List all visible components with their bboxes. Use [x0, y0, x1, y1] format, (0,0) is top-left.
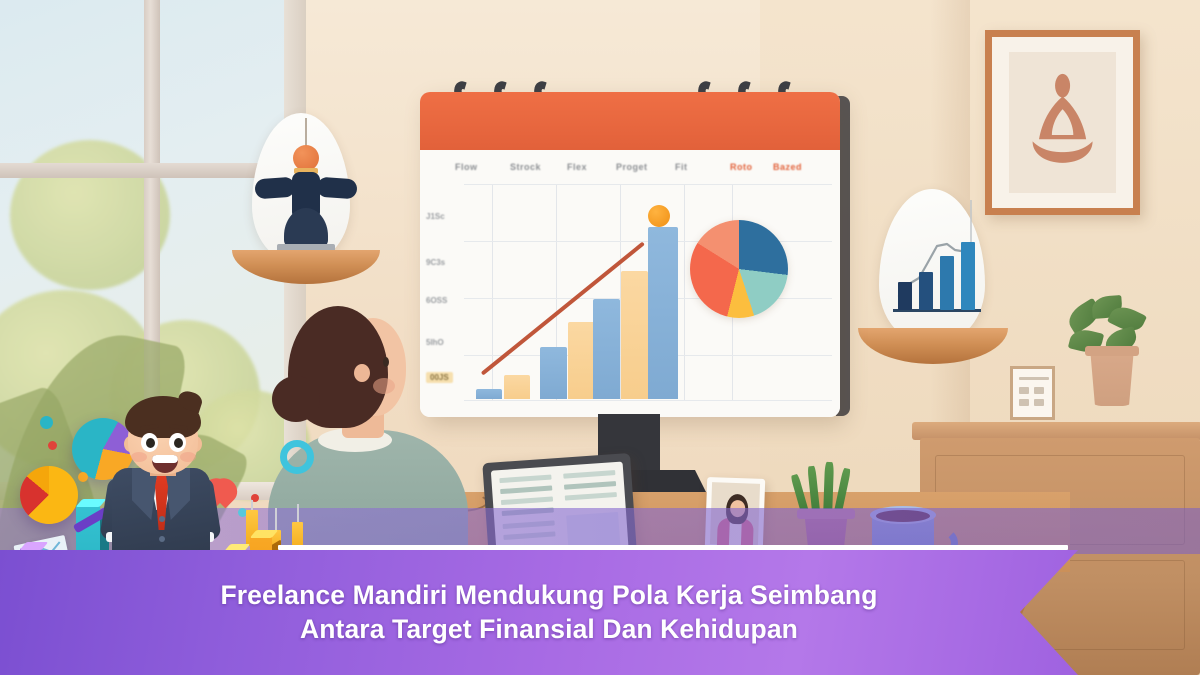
woman-cheek [373, 378, 395, 394]
chart-trend-marker [648, 205, 670, 227]
chart-row-label: 9C3s [426, 258, 445, 267]
businessman-pupil-left [146, 438, 155, 448]
display-header-bar [420, 92, 840, 150]
accent-dot-red [48, 441, 57, 450]
cabinet-mini-frame [1010, 366, 1055, 420]
chart-row-label: 6OSS [426, 296, 447, 305]
figurine-arm-right [316, 177, 357, 200]
chart-col-label: Flow [455, 162, 478, 172]
chart-col-label: Proget [616, 162, 648, 172]
businessman-button [159, 536, 165, 542]
banner-title-line1: Freelance Mandiri Mendukung Pola Kerja S… [220, 580, 877, 610]
woman-eye [383, 357, 389, 367]
display-chart-area: Flow Strock Flex Proget Fit Roto Bazed J… [420, 150, 840, 417]
ornament-bar-4 [961, 242, 975, 310]
chart-bar-blue-2 [540, 347, 567, 399]
figurine-arm-left [254, 177, 295, 200]
chart-col-label: Fit [675, 162, 688, 172]
yoga-figure-icon [1009, 52, 1116, 192]
banner-title-line2: Antara Target Finansial Dan Kehidupan [169, 613, 929, 647]
chart-pie [690, 220, 788, 318]
chart-bar-sand-2 [568, 322, 595, 399]
chart-col-label: Strock [510, 162, 541, 172]
banner-screenshot: Flow Strock Flex Proget Fit Roto Bazed J… [0, 0, 1200, 675]
banner-title: Freelance Mandiri Mendukung Pola Kerja S… [169, 579, 929, 647]
chart-col-label: Bazed [773, 162, 802, 172]
chart-bar-sand-1 [504, 375, 530, 399]
wall-art-canvas [1009, 52, 1116, 192]
cabinet-plant-pot-rim [1085, 346, 1139, 356]
chart-row-label-highlight: 00JS [426, 372, 453, 383]
businessman-button [159, 516, 165, 522]
accent-dot-cyan [40, 416, 53, 429]
accent-ring-cyan [280, 440, 314, 474]
chart-col-label: Flex [567, 162, 587, 172]
wall-art-frame [985, 30, 1140, 215]
banner: Freelance Mandiri Mendukung Pola Kerja S… [0, 550, 1078, 675]
chart-bar-blue-4 [648, 227, 678, 399]
woman-hair-bun [272, 376, 320, 422]
chart-col-label: Roto [730, 162, 753, 172]
chart-bar-sand-3 [621, 271, 648, 399]
ornament-bar-1 [898, 282, 912, 310]
businessman-cheek-left [131, 452, 147, 462]
chart-row-label: J1Sc [426, 212, 445, 221]
chart-row-label: 5IhO [426, 338, 444, 347]
infographic-pie-left [20, 466, 78, 524]
ornament-bar-3 [940, 256, 954, 310]
wall-art-mat [992, 37, 1133, 208]
ornament-bar-2 [919, 272, 933, 310]
banner-divider-rule [278, 545, 1068, 550]
chart-bar-blue-3 [593, 299, 620, 399]
accent-dot-amber [78, 472, 88, 482]
chart-display: Flow Strock Flex Proget Fit Roto Bazed J… [420, 92, 840, 417]
businessman-cheek-right [180, 452, 196, 462]
woman-ear [354, 364, 370, 382]
businessman-pupil-right [174, 438, 183, 448]
cabinet-plant-pot [1087, 348, 1137, 406]
chart-bar-blue-1 [476, 389, 502, 399]
